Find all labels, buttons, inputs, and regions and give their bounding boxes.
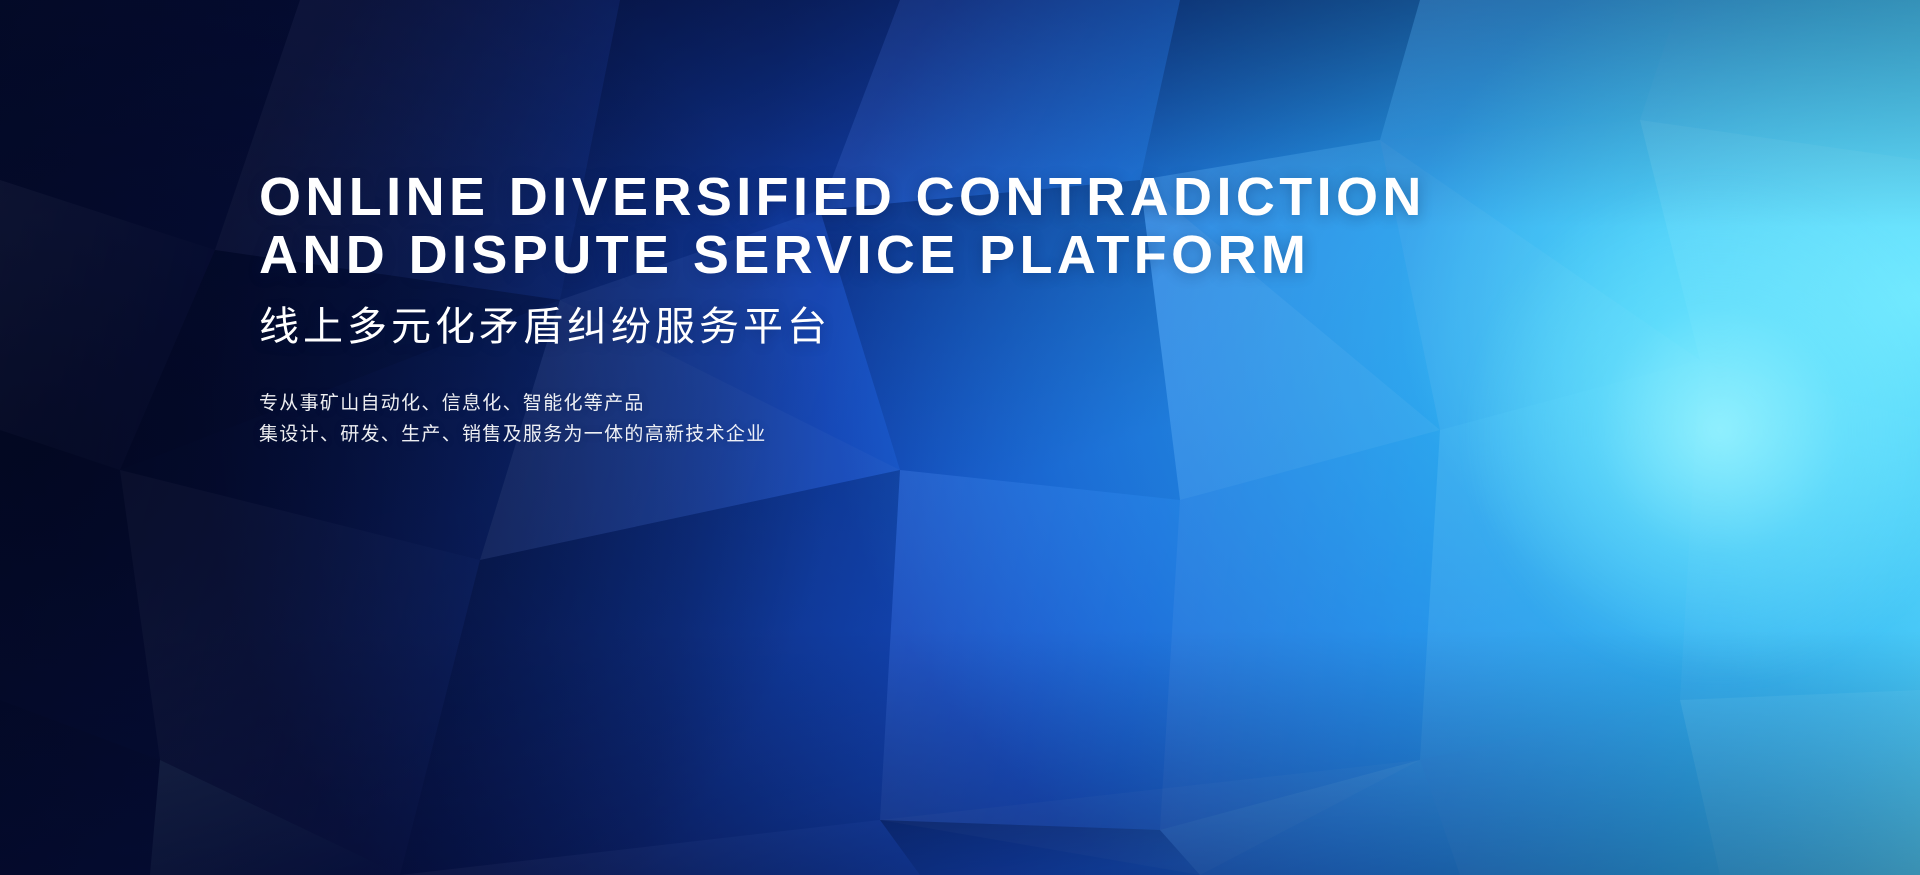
hero-banner: ONLINE DIVERSIFIED CONTRADICTION AND DIS…	[0, 0, 1920, 875]
hero-description-line1: 专从事矿山自动化、信息化、智能化等产品	[259, 388, 1379, 419]
hero-title-en-line1: ONLINE DIVERSIFIED CONTRADICTION	[259, 168, 1379, 226]
hero-copy-block: ONLINE DIVERSIFIED CONTRADICTION AND DIS…	[259, 168, 1379, 450]
hero-title-en-line2: AND DISPUTE SERVICE PLATFORM	[259, 226, 1379, 284]
hero-subtitle-cn: 线上多元化矛盾纠纷服务平台	[259, 304, 1379, 350]
hero-description-line2: 集设计、研发、生产、销售及服务为一体的高新技术企业	[259, 419, 1379, 450]
hero-description: 专从事矿山自动化、信息化、智能化等产品 集设计、研发、生产、销售及服务为一体的高…	[259, 388, 1379, 450]
